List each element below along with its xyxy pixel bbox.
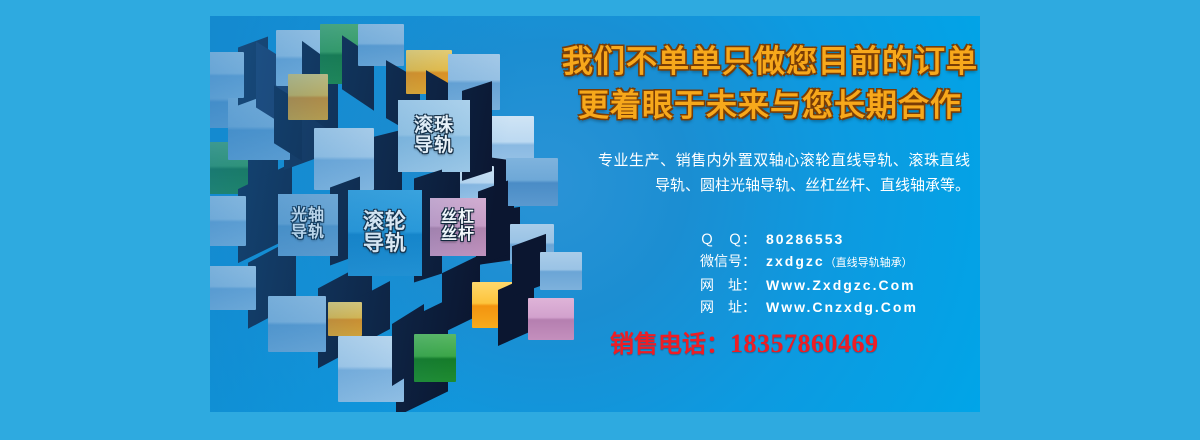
decor-cube xyxy=(268,296,326,352)
banner-headline: 我们不单单只做您目前的订单 更着眼于未来与您长期合作 xyxy=(560,40,980,128)
contact-row-website-2: 网 址： Www.Cnzxdg.Com xyxy=(700,296,980,318)
contact-label-website-1: 网 址： xyxy=(700,274,766,296)
cube-face xyxy=(268,296,326,352)
banner-description: 专业生产、销售内外置双轴心滚轮直线导轨、滚珠直线导轨、圆柱光轴导轨、丝杠丝杆、直… xyxy=(598,148,970,198)
contact-value-website-1[interactable]: Www.Zxdgzc.Com xyxy=(766,274,916,296)
contact-row-qq: Ｑ Ｑ： 80286553 xyxy=(700,228,980,250)
product-cube-ball-rail[interactable]: 滚珠 导轨 xyxy=(398,100,470,172)
decor-cube xyxy=(414,334,456,382)
decor-cube xyxy=(210,196,246,246)
product-label-shaft-rail: 光轴 导轨 xyxy=(278,194,338,256)
product-label-line1: 丝杠 xyxy=(441,210,475,227)
cube-face xyxy=(210,196,246,246)
sales-phone-label: 销售电话： xyxy=(610,331,730,358)
contact-row-website-1: 网 址： Www.Zxdgzc.Com xyxy=(700,274,980,296)
decor-cube xyxy=(506,158,558,206)
product-label-line2: 丝杆 xyxy=(441,227,475,244)
decor-cube xyxy=(288,74,328,120)
banner-copy: 我们不单单只做您目前的订单 更着眼于未来与您长期合作 专业生产、销售内外置双轴心… xyxy=(560,16,980,412)
decor-cube xyxy=(358,24,404,66)
product-label-line1: 滚珠 xyxy=(414,116,454,136)
contact-value-website-2[interactable]: Www.Cnzxdg.Com xyxy=(766,296,918,318)
sales-phone-number[interactable]: 18357860469 xyxy=(730,329,879,358)
product-cube-shaft-rail[interactable]: 光轴 导轨 xyxy=(278,194,338,256)
contact-label-wechat: 微信号： xyxy=(700,250,766,272)
product-label-line1: 光轴 xyxy=(291,208,325,225)
cube-face xyxy=(414,334,456,382)
product-label-line2: 导轨 xyxy=(363,233,407,255)
cube-face xyxy=(210,52,244,98)
cube-face xyxy=(314,128,374,190)
headline-line-2: 更着眼于未来与您长期合作 xyxy=(560,84,980,128)
cube-artwork: 滚珠 导轨 光轴 导轨 滚轮 导轨 xyxy=(210,16,610,412)
sales-phone[interactable]: 销售电话：18357860469 xyxy=(610,324,980,359)
contact-row-wechat: 微信号： zxdgzc （直线导轨轴承） xyxy=(700,250,980,274)
contact-label-website-2: 网 址： xyxy=(700,296,766,318)
page-root: 滚珠 导轨 光轴 导轨 滚轮 导轨 xyxy=(0,0,1200,440)
cube-face xyxy=(358,24,404,66)
product-cube-roller-rail[interactable]: 滚轮 导轨 xyxy=(348,190,422,276)
product-label-line1: 滚轮 xyxy=(363,211,407,233)
cube-face xyxy=(328,302,362,336)
decor-cube xyxy=(210,266,256,310)
contact-label-qq: Ｑ Ｑ： xyxy=(700,228,766,250)
product-label-roller-rail: 滚轮 导轨 xyxy=(348,190,422,276)
product-label-line2: 导轨 xyxy=(291,225,325,242)
decor-cube xyxy=(210,52,244,98)
cube-face xyxy=(506,158,558,206)
cube-face xyxy=(288,74,328,120)
product-label-line2: 导轨 xyxy=(414,136,454,156)
product-label-ball-rail: 滚珠 导轨 xyxy=(398,100,470,172)
cube-face xyxy=(210,266,256,310)
decor-cube xyxy=(328,302,362,336)
product-cube-screw[interactable]: 丝杠 丝杆 xyxy=(430,198,486,256)
headline-line-1: 我们不单单只做您目前的订单 xyxy=(560,40,980,84)
contact-value-qq[interactable]: 80286553 xyxy=(766,228,844,250)
product-label-screw: 丝杠 丝杆 xyxy=(430,198,486,256)
contact-note-wechat: （直线导轨轴承） xyxy=(825,252,913,274)
contact-block: Ｑ Ｑ： 80286553 微信号： zxdgzc （直线导轨轴承） 网 址： … xyxy=(700,228,980,318)
promo-banner: 滚珠 导轨 光轴 导轨 滚轮 导轨 xyxy=(210,16,980,412)
contact-value-wechat[interactable]: zxdgzc xyxy=(766,250,825,272)
decor-cube xyxy=(314,128,374,190)
